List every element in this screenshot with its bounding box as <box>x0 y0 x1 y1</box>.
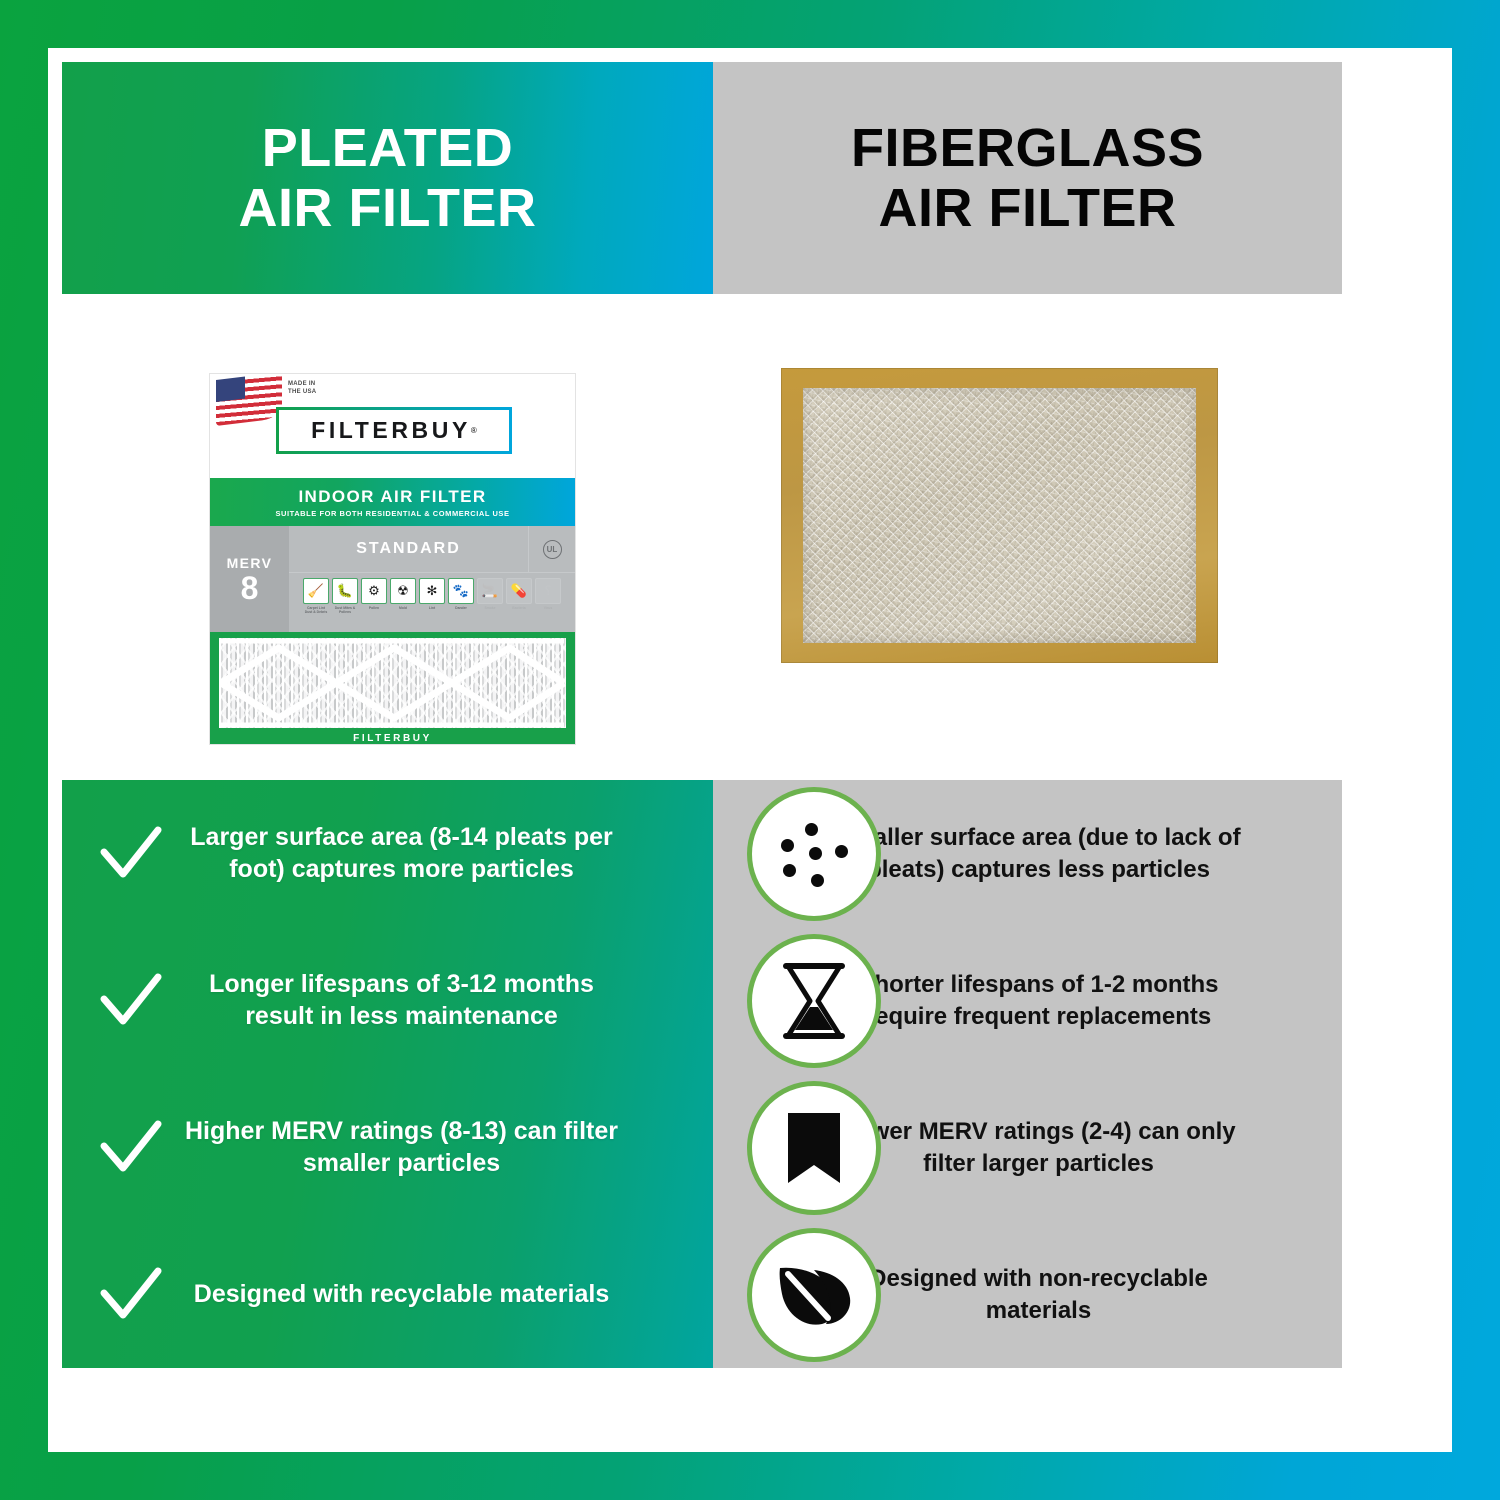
header-fiberglass-title: FIBERGLASS AIR FILTER <box>851 118 1204 239</box>
support-wire-grid <box>219 638 566 728</box>
bookmark-icon <box>752 1086 876 1210</box>
particles-dots <box>777 817 851 891</box>
merv-value: 8 <box>241 572 259 604</box>
capture-icon-1: 🐛Dust Mites & Pollens <box>332 578 358 615</box>
fiberglass-mesh-texture <box>803 388 1196 643</box>
mold-icon: ☢ <box>390 578 416 604</box>
capture-icons-strip: 🧹Carpet Lint Dust & Debris 🐛Dust Mites &… <box>289 573 575 632</box>
capture-caption-1: Dust Mites & Pollens <box>332 606 358 615</box>
smoke-icon: 🚬 <box>477 578 503 604</box>
row-0-left-text: Larger surface area (8-14 pleats per foo… <box>174 822 629 885</box>
made-in-line1: MADE IN <box>288 381 316 389</box>
capture-caption-3: Mold <box>390 606 416 610</box>
product-image-band: MADE IN THE USA FILTERBUY® INDOOR AIR FI… <box>62 294 1342 780</box>
capture-icon-2: ⚙Pollen <box>361 578 387 610</box>
grade-label: STANDARD <box>289 526 528 572</box>
usa-flag-icon <box>216 373 282 426</box>
capture-caption-0: Carpet Lint Dust & Debris <box>303 606 329 615</box>
table-row: Higher MERV ratings (8-13) can filter sm… <box>62 1074 1342 1221</box>
filter-footer-brand: FILTERBUY <box>210 733 575 744</box>
ul-icon: UL <box>543 540 562 559</box>
table-row: Designed with recyclable materials Desig… <box>62 1221 1342 1368</box>
header-pleated-line1: PLEATED <box>239 118 537 178</box>
vacuum-icon: 🧹 <box>303 578 329 604</box>
capture-icon-5: 🐾Dander <box>448 578 474 610</box>
check-icon <box>98 1120 164 1176</box>
table-row: Longer lifespans of 3-12 months result i… <box>62 927 1342 1074</box>
wire-svg <box>219 638 566 728</box>
pollen-icon: ⚙ <box>361 578 387 604</box>
banner-subtitle: SUITABLE FOR BOTH RESIDENTIAL & COMMERCI… <box>275 509 509 518</box>
trademark-symbol: ® <box>471 426 477 435</box>
indoor-air-filter-banner: INDOOR AIR FILTER SUITABLE FOR BOTH RESI… <box>210 478 575 526</box>
row-0-right-text: Smaller surface area (due to lack of ple… <box>821 822 1256 884</box>
leaf-icon <box>752 1233 876 1357</box>
capture-icon-8: ⸮Virus <box>535 578 561 610</box>
virus-icon: ⸮ <box>535 578 561 604</box>
pleated-product-cell: MADE IN THE USA FILTERBUY® INDOOR AIR FI… <box>62 294 713 780</box>
made-in-line2: THE USA <box>288 389 316 397</box>
banner-title: INDOOR AIR FILTER <box>298 487 486 507</box>
check-icon <box>98 973 164 1029</box>
grade-row: STANDARD UL <box>289 526 575 573</box>
row-1-left-cell: Longer lifespans of 3-12 months result i… <box>62 927 713 1074</box>
filter-box-top: MADE IN THE USA FILTERBUY® <box>210 374 575 478</box>
capture-caption-4: Lint <box>419 606 445 610</box>
row-3-left-cell: Designed with recyclable materials <box>62 1221 713 1368</box>
pleated-media-window: FILTERBUY <box>210 632 575 745</box>
header-fiberglass-line1: FIBERGLASS <box>851 118 1204 178</box>
check-icon <box>98 826 164 882</box>
filterbuy-logo: FILTERBUY® <box>276 407 512 454</box>
comparison-rows: Larger surface area (8-14 pleats per foo… <box>62 780 1342 1368</box>
row-0-left-cell: Larger surface area (8-14 pleats per foo… <box>62 780 713 927</box>
row-2-left-text: Higher MERV ratings (8-13) can filter sm… <box>174 1116 629 1179</box>
capture-caption-5: Dander <box>448 606 474 610</box>
capture-icon-0: 🧹Carpet Lint Dust & Debris <box>303 578 329 615</box>
row-3-left-text: Designed with recyclable materials <box>174 1279 629 1310</box>
header-pleated: PLEATED AIR FILTER <box>62 62 713 294</box>
row-1-right-text: Shorter lifespans of 1-2 months require … <box>821 969 1256 1031</box>
table-row: Larger surface area (8-14 pleats per foo… <box>62 780 1342 927</box>
fiberglass-filter-product-image <box>781 368 1218 663</box>
header-fiberglass: FIBERGLASS AIR FILTER <box>713 62 1342 294</box>
merv-badge: MERV 8 <box>210 526 289 632</box>
header-pleated-title: PLEATED AIR FILTER <box>239 118 537 239</box>
row-1-left-text: Longer lifespans of 3-12 months result i… <box>174 969 629 1032</box>
comparison-table: Larger surface area (8-14 pleats per foo… <box>62 780 1342 1368</box>
particles-icon <box>752 792 876 916</box>
header-pleated-line2: AIR FILTER <box>239 178 537 238</box>
capture-caption-2: Pollen <box>361 606 387 610</box>
capture-caption-7: Bacteria <box>506 606 532 610</box>
capture-icon-4: ✻Lint <box>419 578 445 610</box>
capture-icon-7: 💊Bacteria <box>506 578 532 610</box>
capture-caption-6: Smoke <box>477 606 503 610</box>
ul-certification-mark: UL <box>528 526 575 572</box>
capture-icon-6: 🚬Smoke <box>477 578 503 610</box>
filter-spec-strip: MERV 8 STANDARD UL 🧹Carpet Lint Dust & D… <box>210 526 575 632</box>
fiberglass-product-cell <box>713 294 1342 780</box>
header-row: PLEATED AIR FILTER FIBERGLASS AIR FILTER <box>62 62 1342 294</box>
header-fiberglass-line2: AIR FILTER <box>851 178 1204 238</box>
row-2-right-text: Lower MERV ratings (2-4) can only filter… <box>821 1116 1256 1178</box>
merv-label: MERV <box>227 555 273 571</box>
hourglass-icon <box>752 939 876 1063</box>
dustmite-icon: 🐛 <box>332 578 358 604</box>
pleated-filter-product-image: MADE IN THE USA FILTERBUY® INDOOR AIR FI… <box>209 373 576 745</box>
pet-dander-icon: 🐾 <box>448 578 474 604</box>
row-3-right-text: Designed with non-recyclable materials <box>821 1263 1256 1325</box>
row-2-left-cell: Higher MERV ratings (8-13) can filter sm… <box>62 1074 713 1221</box>
check-icon <box>98 1267 164 1323</box>
spec-right: STANDARD UL 🧹Carpet Lint Dust & Debris 🐛… <box>289 526 575 632</box>
made-in-usa-label: MADE IN THE USA <box>288 381 316 396</box>
filterbuy-wordmark: FILTERBUY <box>311 417 471 444</box>
capture-caption-8: Virus <box>535 606 561 610</box>
capture-icon-3: ☢Mold <box>390 578 416 610</box>
bacteria-icon: 💊 <box>506 578 532 604</box>
lint-icon: ✻ <box>419 578 445 604</box>
